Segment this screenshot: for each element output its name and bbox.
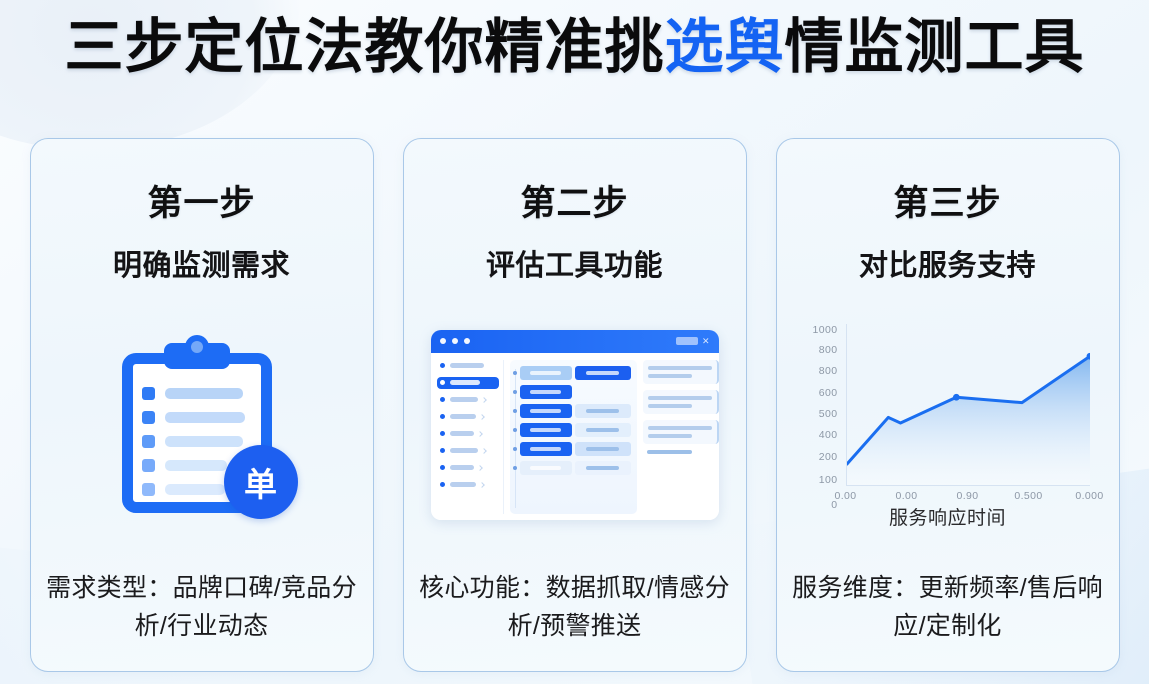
note-tail-line xyxy=(647,450,693,454)
chart-area-fill xyxy=(847,356,1090,485)
timeline-chip-primary[interactable] xyxy=(520,461,572,475)
chip-label xyxy=(530,371,561,375)
sidebar-item-label xyxy=(450,448,478,453)
card-footer-1: 需求类型：品牌口碑/竞品分析/行业动态 xyxy=(31,569,373,645)
chart-y-tick-label: 500 xyxy=(819,408,838,420)
timeline-row xyxy=(520,366,631,380)
step-cards-row: 第一步 明确监测需求 单 需求类型：品牌口碑/竞品分析/行业动态 第二步 评估工… xyxy=(0,138,1149,676)
note-text-line xyxy=(648,396,712,400)
step-subtitle-2: 评估工具功能 xyxy=(486,242,663,284)
mockup-notes-panel xyxy=(643,360,719,514)
checklist-checkbox xyxy=(142,459,155,472)
mockup-body xyxy=(431,353,719,520)
chevron-right-icon xyxy=(481,397,487,403)
card-art-1: 单 xyxy=(31,284,373,569)
timeline-rows xyxy=(520,366,631,475)
chip-label xyxy=(586,447,620,451)
step-subtitle-3: 对比服务支持 xyxy=(859,242,1036,284)
mockup-sidebar-item[interactable] xyxy=(437,411,499,423)
chart-x-tick-label: 0.00 xyxy=(834,490,856,502)
note-text-line xyxy=(648,426,712,430)
chart-x-title: 服务响应时间 xyxy=(798,503,1098,530)
step-label-1: 第一步 xyxy=(147,175,255,226)
chip-label xyxy=(530,447,561,451)
note-text-line xyxy=(648,374,693,378)
timeline-chip-primary[interactable] xyxy=(520,366,572,380)
sidebar-bullet-icon xyxy=(440,431,445,436)
step-subtitle-1: 明确监测需求 xyxy=(113,242,290,284)
timeline-row xyxy=(520,404,631,418)
checklist-line xyxy=(165,388,243,399)
chip-label xyxy=(586,409,620,413)
chart-y-tick-label: 400 xyxy=(819,429,838,441)
titlebar-chip xyxy=(676,337,698,345)
timeline-chip-secondary[interactable] xyxy=(575,423,631,437)
chart-x-tick-label: 0.000 xyxy=(1075,490,1103,502)
sidebar-bullet-icon xyxy=(440,448,445,453)
step-label-2: 第二步 xyxy=(520,175,628,226)
sidebar-item-label xyxy=(450,482,476,487)
chevron-right-icon xyxy=(479,482,485,488)
chart-x-tick-label: 0.90 xyxy=(956,490,978,502)
chart-y-tick-label: 100 xyxy=(819,474,838,486)
timeline-row xyxy=(520,385,631,399)
timeline-chip-secondary[interactable] xyxy=(575,442,631,456)
window-dot xyxy=(452,338,458,344)
chevron-right-icon xyxy=(481,448,487,454)
chip-label xyxy=(586,428,620,432)
timeline-row xyxy=(520,423,631,437)
mockup-titlebar: ✕ xyxy=(431,330,719,353)
mockup-sidebar-item[interactable] xyxy=(437,360,499,372)
sidebar-item-label xyxy=(450,380,480,385)
title-prefix: 三步定位法教你精准挑 xyxy=(64,14,664,80)
clipboard-checklist-row xyxy=(142,387,260,400)
checklist-line xyxy=(165,412,245,423)
app-dashboard-mockup: ✕ xyxy=(431,330,719,520)
chart-y-tick-label: 200 xyxy=(819,451,838,463)
chip-label xyxy=(586,466,620,470)
timeline-chip-secondary[interactable] xyxy=(575,461,631,475)
step-label-3: 第三步 xyxy=(893,175,1001,226)
timeline-chip-primary[interactable] xyxy=(520,423,572,437)
clipboard-checklist-row xyxy=(142,435,260,448)
chart-y-tick-label: 800 xyxy=(819,365,838,377)
chip-label xyxy=(530,428,561,432)
chip-label xyxy=(586,371,620,375)
window-dot xyxy=(440,338,446,344)
card-footer-2: 核心功能：数据抓取/情感分析/预警推送 xyxy=(404,569,746,645)
note-text-line xyxy=(648,366,712,370)
mockup-timeline-panel xyxy=(510,360,637,514)
sidebar-bullet-icon xyxy=(440,397,445,402)
chart-y-tick-label: 600 xyxy=(819,387,838,399)
mockup-sidebar-item[interactable] xyxy=(437,428,499,440)
checklist-checkbox xyxy=(142,483,155,496)
sidebar-bullet-icon xyxy=(440,482,445,487)
timeline-node-icon xyxy=(513,409,517,413)
page-title: 三步定位法教你精准挑选舆情监测工具 xyxy=(0,6,1149,88)
service-response-chart: 10008008006005004002001000 0.000.000.900… xyxy=(798,318,1098,530)
timeline-node-icon xyxy=(513,371,517,375)
chart-series-svg xyxy=(847,324,1090,485)
sidebar-item-label xyxy=(450,414,476,419)
timeline-chip-primary[interactable] xyxy=(520,442,572,456)
clipboard-checklist-row xyxy=(142,411,260,424)
mockup-note-card xyxy=(643,360,719,384)
clipboard-badge: 单 xyxy=(224,445,298,519)
chevron-right-icon xyxy=(477,431,483,437)
sidebar-item-label xyxy=(450,363,484,368)
step-card-3: 第三步 对比服务支持 10008008006005004002001000 0.… xyxy=(776,138,1120,672)
sidebar-bullet-icon xyxy=(440,363,445,368)
sidebar-bullet-icon xyxy=(440,465,445,470)
clipboard-knob xyxy=(185,335,209,359)
mockup-note-card xyxy=(643,420,719,444)
step-card-1: 第一步 明确监测需求 单 需求类型：品牌口碑/竞品分析/行业动态 xyxy=(30,138,374,672)
chart-y-tick-label: 800 xyxy=(819,344,838,356)
checklist-line xyxy=(165,460,227,471)
chip-label xyxy=(530,409,561,413)
chart-plot-area xyxy=(846,324,1090,486)
mockup-sidebar-item[interactable] xyxy=(437,445,499,457)
chart-x-tick-label: 0.00 xyxy=(895,490,917,502)
checklist-checkbox xyxy=(142,411,155,424)
chevron-right-icon xyxy=(479,414,485,420)
timeline-node-icon xyxy=(513,447,517,451)
sidebar-bullet-icon xyxy=(440,380,445,385)
mockup-sidebar-item[interactable] xyxy=(437,479,499,491)
mockup-sidebar-item[interactable] xyxy=(437,377,499,389)
mockup-sidebar-item[interactable] xyxy=(437,394,499,406)
card-art-2: ✕ xyxy=(404,284,746,569)
timeline-chip-secondary[interactable] xyxy=(575,366,631,380)
card-art-3: 10008008006005004002001000 0.000.000.900… xyxy=(777,284,1119,569)
sidebar-item-label xyxy=(450,465,474,470)
timeline-chip-primary[interactable] xyxy=(520,404,572,418)
window-dot xyxy=(464,338,470,344)
timeline-row xyxy=(520,461,631,475)
chip-label xyxy=(530,466,561,470)
chart-data-point xyxy=(952,393,959,400)
chart-y-tick-label: 1000 xyxy=(813,324,838,336)
infographic-page: 三步定位法教你精准挑选舆情监测工具 第一步 明确监测需求 单 需求类型：品牌口碑… xyxy=(0,0,1149,684)
sidebar-bullet-icon xyxy=(440,414,445,419)
timeline-row xyxy=(520,442,631,456)
card-footer-3: 服务维度：更新频率/售后响应/定制化 xyxy=(777,569,1119,645)
mockup-sidebar-item[interactable] xyxy=(437,462,499,474)
mockup-note-card xyxy=(643,390,719,414)
timeline-chip-primary[interactable] xyxy=(520,385,572,399)
step-card-2: 第二步 评估工具功能 ✕ xyxy=(403,138,747,672)
checklist-checkbox xyxy=(142,387,155,400)
checklist-line xyxy=(165,484,225,495)
clipboard-icon: 单 xyxy=(114,335,290,513)
chip-label xyxy=(530,390,561,394)
timeline-node-icon xyxy=(513,428,517,432)
timeline-node-icon xyxy=(513,390,517,394)
close-icon: ✕ xyxy=(702,337,710,346)
sidebar-item-label xyxy=(450,397,478,402)
mockup-sidebar xyxy=(437,360,504,514)
timeline-node-icon xyxy=(513,466,517,470)
chart-x-axis-labels: 0.000.000.900.5000.000 xyxy=(846,490,1090,504)
note-text-line xyxy=(648,404,693,408)
chevron-right-icon xyxy=(477,465,483,471)
mockup-titlebar-right: ✕ xyxy=(676,337,710,346)
checklist-line xyxy=(165,436,243,447)
chart-x-tick-label: 0.500 xyxy=(1014,490,1042,502)
title-suffix: 情监测工具 xyxy=(785,14,1085,80)
title-highlight: 选舆 xyxy=(664,14,784,80)
note-text-line xyxy=(648,434,693,438)
timeline-chip-secondary[interactable] xyxy=(575,404,631,418)
sidebar-item-label xyxy=(450,431,474,436)
checklist-checkbox xyxy=(142,435,155,448)
